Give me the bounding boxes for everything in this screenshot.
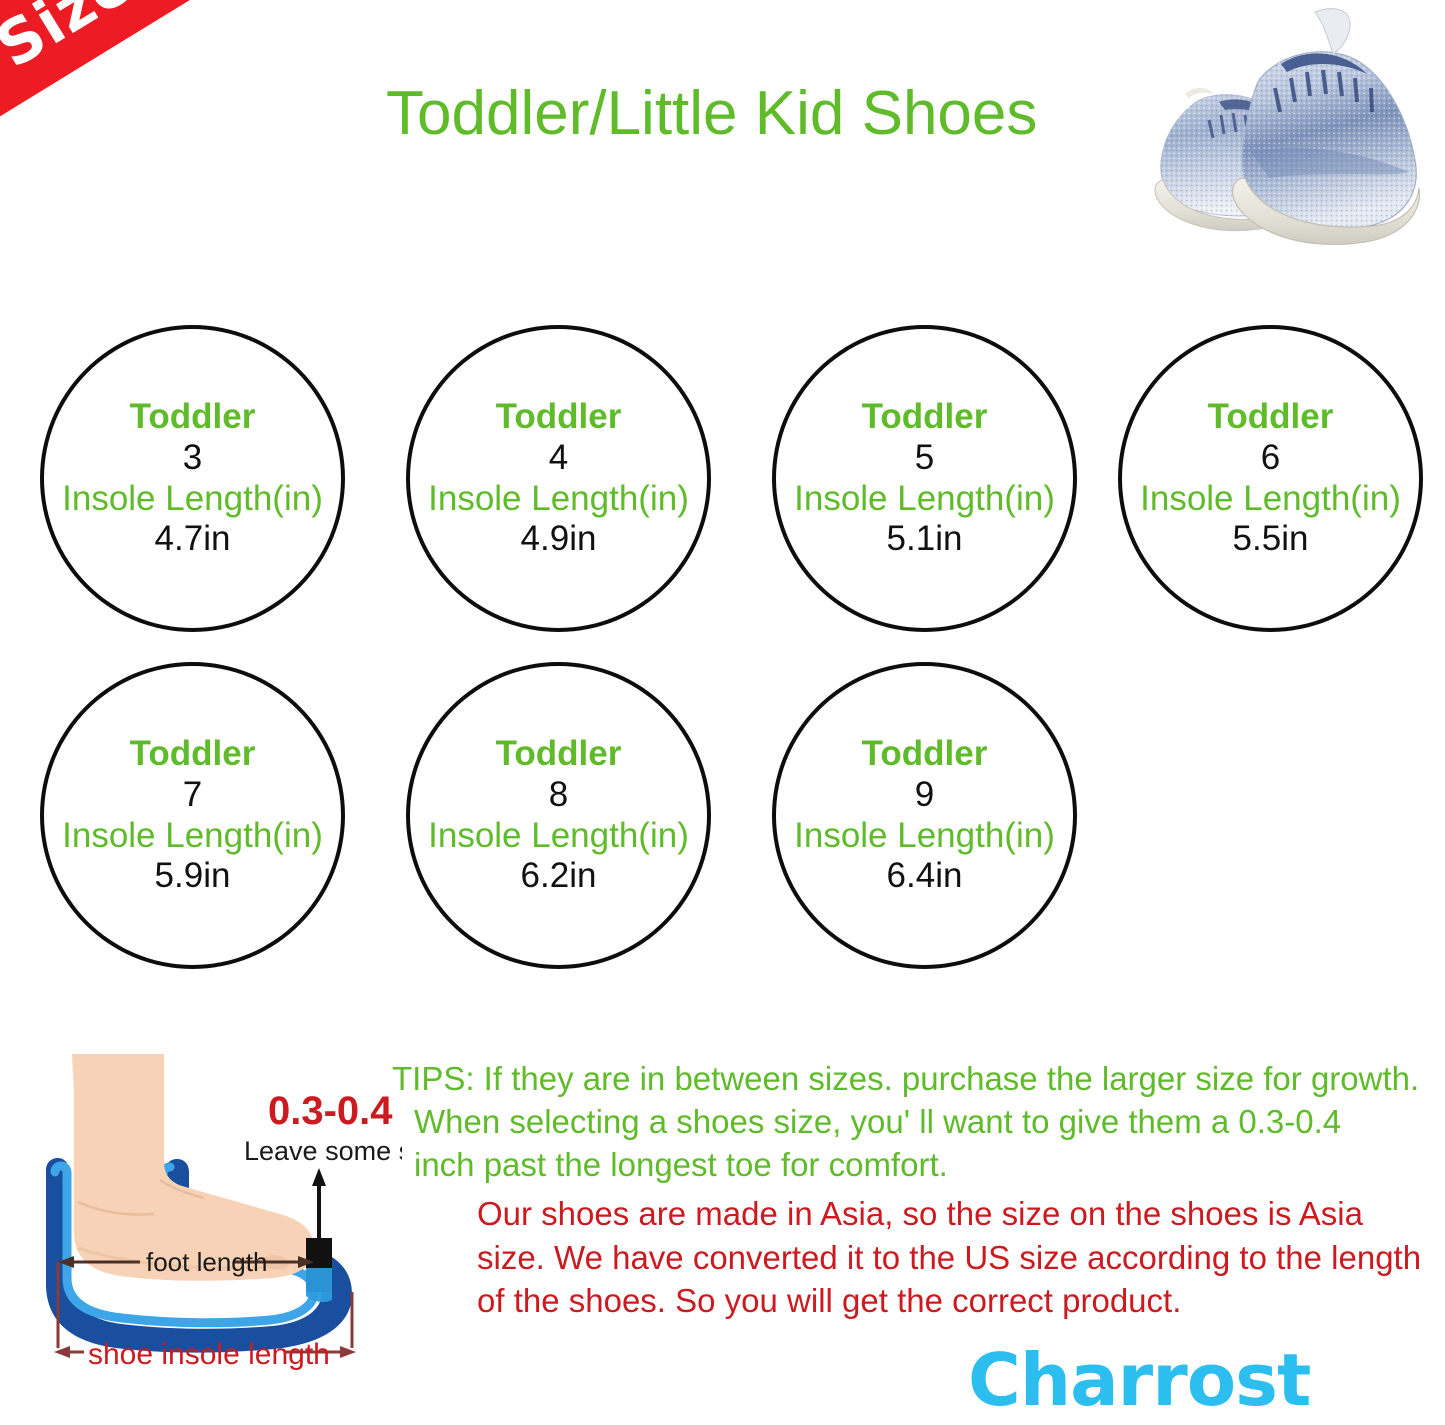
- asia-note-line-1: Our shoes are made in Asia, so the size …: [477, 1192, 1437, 1236]
- circle-measure-label: Insole Length(in): [1140, 479, 1401, 520]
- tips-block: TIPS: If they are in between sizes. purc…: [392, 1058, 1432, 1187]
- insole-length-label: shoe insole length: [88, 1338, 330, 1371]
- tips-line-2: When selecting a shoes size, you' ll wan…: [392, 1101, 1432, 1144]
- size-circle-toddler-5: Toddler 5 Insole Length(in) 5.1in: [772, 325, 1077, 632]
- asia-note-line-2: size. We have converted it to the US siz…: [477, 1236, 1437, 1280]
- circle-label: Toddler: [862, 397, 988, 438]
- circle-measure-value: 5.1in: [887, 519, 963, 560]
- circle-size-value: 6: [1261, 438, 1280, 479]
- asia-note-line-3: of the shoes. So you will get the correc…: [477, 1279, 1437, 1323]
- circle-measure-label: Insole Length(in): [794, 816, 1055, 857]
- gap-value-label: 0.3-0.4: [268, 1089, 393, 1133]
- circle-label: Toddler: [496, 734, 622, 775]
- circle-label: Toddler: [1208, 397, 1334, 438]
- circle-measure-value: 6.4in: [887, 856, 963, 897]
- toddler-shoes-image: [1133, 2, 1445, 260]
- circle-label: Toddler: [862, 734, 988, 775]
- foot-measurement-diagram: 0.3-0.4 Leave some space foot length sho…: [22, 1052, 402, 1390]
- circle-size-value: 7: [183, 775, 202, 816]
- circle-measure-value: 5.9in: [155, 856, 231, 897]
- circle-size-value: 4: [549, 438, 568, 479]
- asia-size-note: Our shoes are made in Asia, so the size …: [477, 1192, 1437, 1323]
- circle-label: Toddler: [130, 734, 256, 775]
- circle-measure-value: 4.7in: [155, 519, 231, 560]
- circle-size-value: 9: [915, 775, 934, 816]
- tips-line-3: inch past the longest toe for comfort.: [392, 1144, 1432, 1187]
- size-circle-toddler-8: Toddler 8 Insole Length(in) 6.2in: [406, 662, 711, 969]
- size-circle-toddler-7: Toddler 7 Insole Length(in) 5.9in: [40, 662, 345, 969]
- circle-measure-value: 6.2in: [521, 856, 597, 897]
- ribbon-label: Size Chart: [0, 0, 329, 91]
- circle-label: Toddler: [130, 397, 256, 438]
- circle-measure-value: 4.9in: [521, 519, 597, 560]
- circle-label: Toddler: [496, 397, 622, 438]
- circle-measure-label: Insole Length(in): [794, 479, 1055, 520]
- size-circle-toddler-4: Toddler 4 Insole Length(in) 4.9in: [406, 325, 711, 632]
- circle-measure-value: 5.5in: [1233, 519, 1309, 560]
- circle-size-value: 3: [183, 438, 202, 479]
- brand-logo: Charrost: [968, 1338, 1310, 1422]
- size-circle-row-1: Toddler 3 Insole Length(in) 4.7in Toddle…: [0, 325, 1445, 635]
- tips-line-1: TIPS: If they are in between sizes. purc…: [392, 1058, 1432, 1101]
- page-title: Toddler/Little Kid Shoes: [386, 78, 1037, 149]
- circle-measure-label: Insole Length(in): [428, 479, 689, 520]
- foot-length-label: foot length: [146, 1247, 267, 1277]
- circle-measure-label: Insole Length(in): [62, 479, 323, 520]
- circle-measure-label: Insole Length(in): [428, 816, 689, 857]
- size-circle-toddler-6: Toddler 6 Insole Length(in) 5.5in: [1118, 325, 1423, 632]
- size-chart-ribbon: Size Chart: [0, 0, 420, 300]
- circle-size-value: 5: [915, 438, 934, 479]
- size-circle-toddler-9: Toddler 9 Insole Length(in) 6.4in: [772, 662, 1077, 969]
- size-circle-row-2: Toddler 7 Insole Length(in) 5.9in Toddle…: [0, 662, 1445, 972]
- gap-caption-label: Leave some space: [244, 1136, 402, 1166]
- size-circle-toddler-3: Toddler 3 Insole Length(in) 4.7in: [40, 325, 345, 632]
- ribbon-banner: Size Chart: [0, 0, 416, 154]
- product-photo: [1133, 2, 1445, 260]
- circle-measure-label: Insole Length(in): [62, 816, 323, 857]
- circle-size-value: 8: [549, 775, 568, 816]
